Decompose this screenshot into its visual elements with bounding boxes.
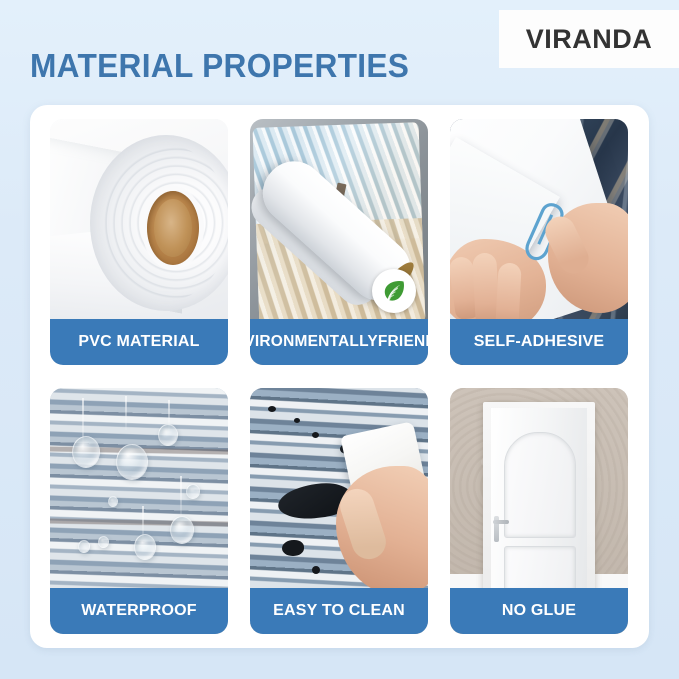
stain-mark [268, 406, 276, 412]
water-droplet [134, 534, 156, 560]
features-grid: PVC MATERIAL [50, 119, 629, 634]
stain-mark [312, 432, 319, 438]
water-droplet [158, 424, 178, 446]
water-droplet [108, 496, 118, 507]
door-panel-top [504, 432, 576, 538]
water-droplet [72, 436, 100, 468]
water-streak [180, 476, 182, 516]
infographic-page: VIRANDA MATERIAL PROPERTIES PVC MATERIAL [0, 0, 679, 679]
water-droplet [98, 536, 109, 548]
feature-label-no-glue: NO GLUE [450, 588, 628, 634]
door-lever [493, 520, 509, 524]
stain-mark [282, 540, 304, 556]
feature-label-easy-to-clean: EASY TO CLEAN [250, 588, 428, 634]
stain-mark [312, 566, 320, 574]
feature-card-pvc-material[interactable]: PVC MATERIAL [50, 119, 228, 365]
water-droplet [170, 516, 194, 544]
feature-label-line-2: FRIENDLY [378, 334, 428, 350]
water-droplet [116, 444, 148, 480]
feature-label-self-adhesive: SELF-ADHESIVE [450, 319, 628, 365]
feature-label-line-1: ENVIRONMENTALLY [250, 334, 378, 350]
feature-card-environmentally-friendly[interactable]: ENVIRONMENTALLY FRIENDLY [250, 119, 428, 365]
feature-label-waterproof: WATERPROOF [50, 588, 228, 634]
feature-card-waterproof[interactable]: WATERPROOF [50, 388, 228, 634]
feature-label-pvc-material: PVC MATERIAL [50, 319, 228, 365]
features-panel: PVC MATERIAL [30, 105, 649, 648]
water-streak [125, 396, 127, 430]
stain-mark [294, 418, 300, 423]
feature-label-environmentally-friendly: ENVIRONMENTALLY FRIENDLY [250, 319, 428, 365]
water-droplet [78, 540, 90, 553]
pvc-core-inner [154, 199, 192, 257]
water-droplet [186, 484, 200, 499]
feature-card-self-adhesive[interactable]: SELF-ADHESIVE [450, 119, 628, 365]
brand-logo: VIRANDA [499, 10, 679, 68]
door-panel-bottom [504, 546, 576, 592]
brand-logo-text: VIRANDA [526, 24, 653, 55]
feature-card-easy-to-clean[interactable]: EASY TO CLEAN [250, 388, 428, 634]
feature-card-no-glue[interactable]: NO GLUE [450, 388, 628, 634]
leaf-icon [372, 269, 416, 313]
page-title: MATERIAL PROPERTIES [30, 47, 409, 85]
